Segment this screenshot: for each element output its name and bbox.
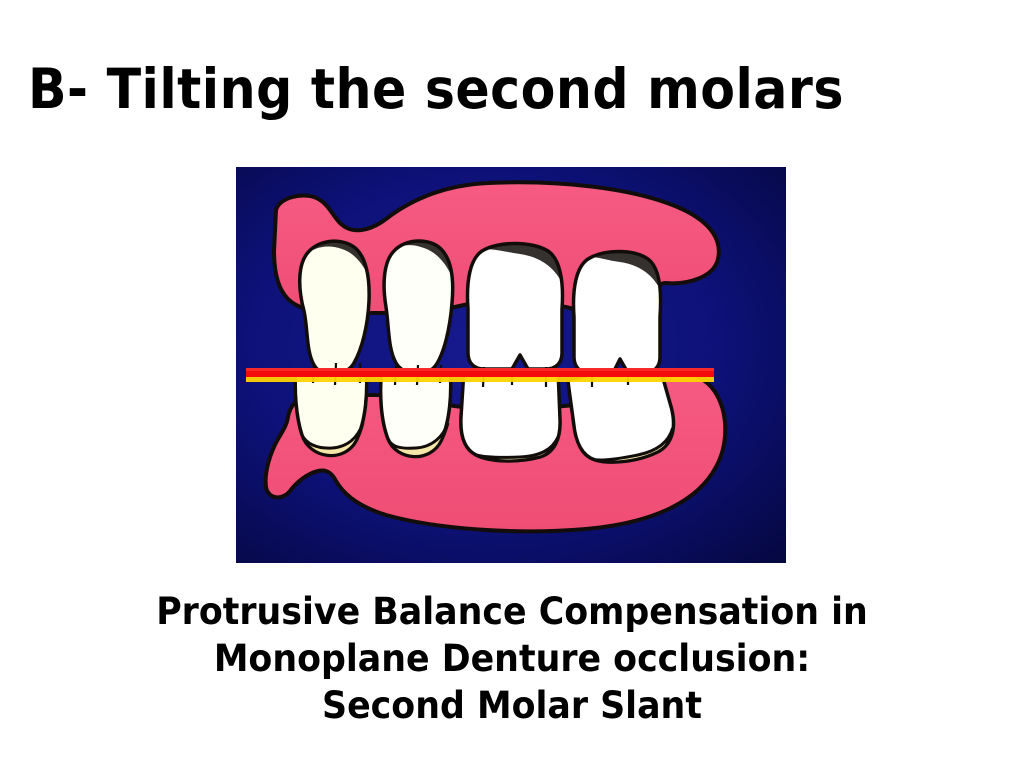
tooth-upper-posterior-1 bbox=[468, 244, 563, 370]
denture-illustration bbox=[236, 167, 786, 563]
figure-caption: Protrusive Balance Compensation in Monop… bbox=[40, 588, 984, 729]
tooth-upper-anterior-2 bbox=[384, 241, 453, 374]
caption-line-1: Protrusive Balance Compensation in bbox=[68, 588, 955, 635]
denture-svg bbox=[236, 167, 786, 563]
page-title: B- Tilting the second molars bbox=[28, 58, 919, 122]
caption-line-3: Second Molar Slant bbox=[68, 682, 955, 729]
caption-line-2: Monoplane Denture occlusion: bbox=[68, 635, 955, 682]
occlusal-plane-line bbox=[246, 368, 714, 382]
tooth-upper-second-molar bbox=[574, 252, 661, 374]
tooth-upper-anterior-1 bbox=[300, 241, 369, 374]
